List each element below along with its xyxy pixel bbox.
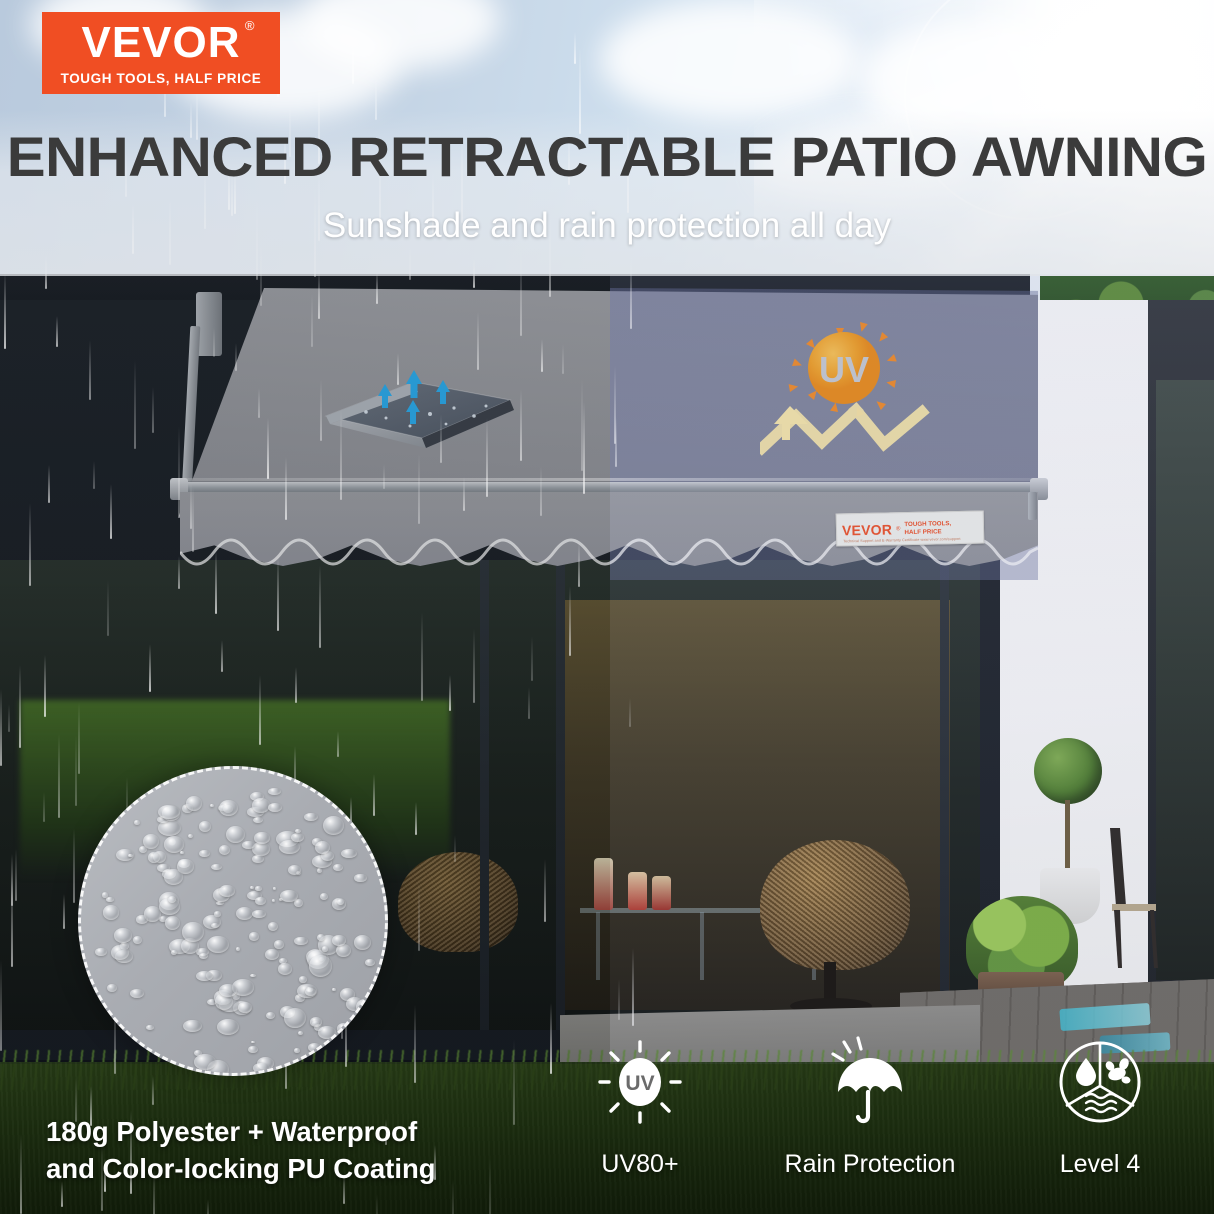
topiary-plant [1034,738,1102,804]
topiary-trunk [1065,800,1070,872]
tag-line1: TOUGH TOOLS, [904,520,951,529]
logo-tagline: TOUGH TOOLS, HALF PRICE [61,71,262,86]
uv-badge-text: UV [819,349,869,390]
material-caption-line1: 180g Polyester + Waterproof [46,1114,476,1151]
uv-protection-graphic: UV [760,300,970,480]
outdoor-chair [1100,820,1162,970]
vevor-logo: VEVOR® TOUGH TOOLS, HALF PRICE [42,12,280,94]
patio-door-glass [1156,380,1214,980]
umbrella-icon [824,1034,916,1130]
water-beading-detail-inset [78,766,388,1076]
svg-text:UV: UV [625,1072,654,1095]
logo-brand-text: VEVOR [81,18,240,67]
logo-registered-mark: ® [245,19,256,32]
wicker-chair [760,840,910,970]
feature-label: Level 4 [1060,1150,1141,1179]
product-marketing-image: UV VEVOR ® TOUGH TOOLS, HALF PRICE Techn… [0,0,1214,1214]
tag-line2: HALF PRICE [904,528,951,537]
uv-sun-icon: UV [594,1034,686,1130]
tag-registered-mark: ® [896,526,901,532]
tag-brand: VEVOR [842,522,892,537]
awning-mount-bracket [196,292,222,356]
tag-fine-print: Technical Support and E-Warranty Certifi… [843,537,981,544]
feature-uv80: UV UV80+ [540,1034,740,1179]
water-resistance-icon [1054,1034,1146,1130]
feature-level-4: Level 4 [1000,1034,1200,1179]
material-caption-line2: and Color-locking PU Coating [46,1151,476,1188]
feature-label: UV80+ [601,1150,678,1179]
feature-label: Rain Protection [785,1150,956,1179]
feature-rain-protection: Rain Protection [770,1034,970,1179]
logo-wordmark: VEVOR® [81,21,240,65]
water-repellent-fabric-graphic [318,352,528,472]
bottle [652,876,671,910]
material-caption: 180g Polyester + Waterproof and Color-lo… [46,1114,476,1188]
product-label-tag: VEVOR ® TOUGH TOOLS, HALF PRICE Technica… [836,510,985,546]
awning-support-arm-right [1028,492,1037,520]
page-subtitle: Sunshade and rain protection all day [0,206,1214,246]
wicker-chair-secondary [398,852,518,952]
bottle [594,858,613,910]
page-title: ENHANCED RETRACTABLE PATIO AWNING [0,124,1214,189]
feature-row: UV UV80+ [540,1034,1200,1206]
bottle [628,872,647,910]
